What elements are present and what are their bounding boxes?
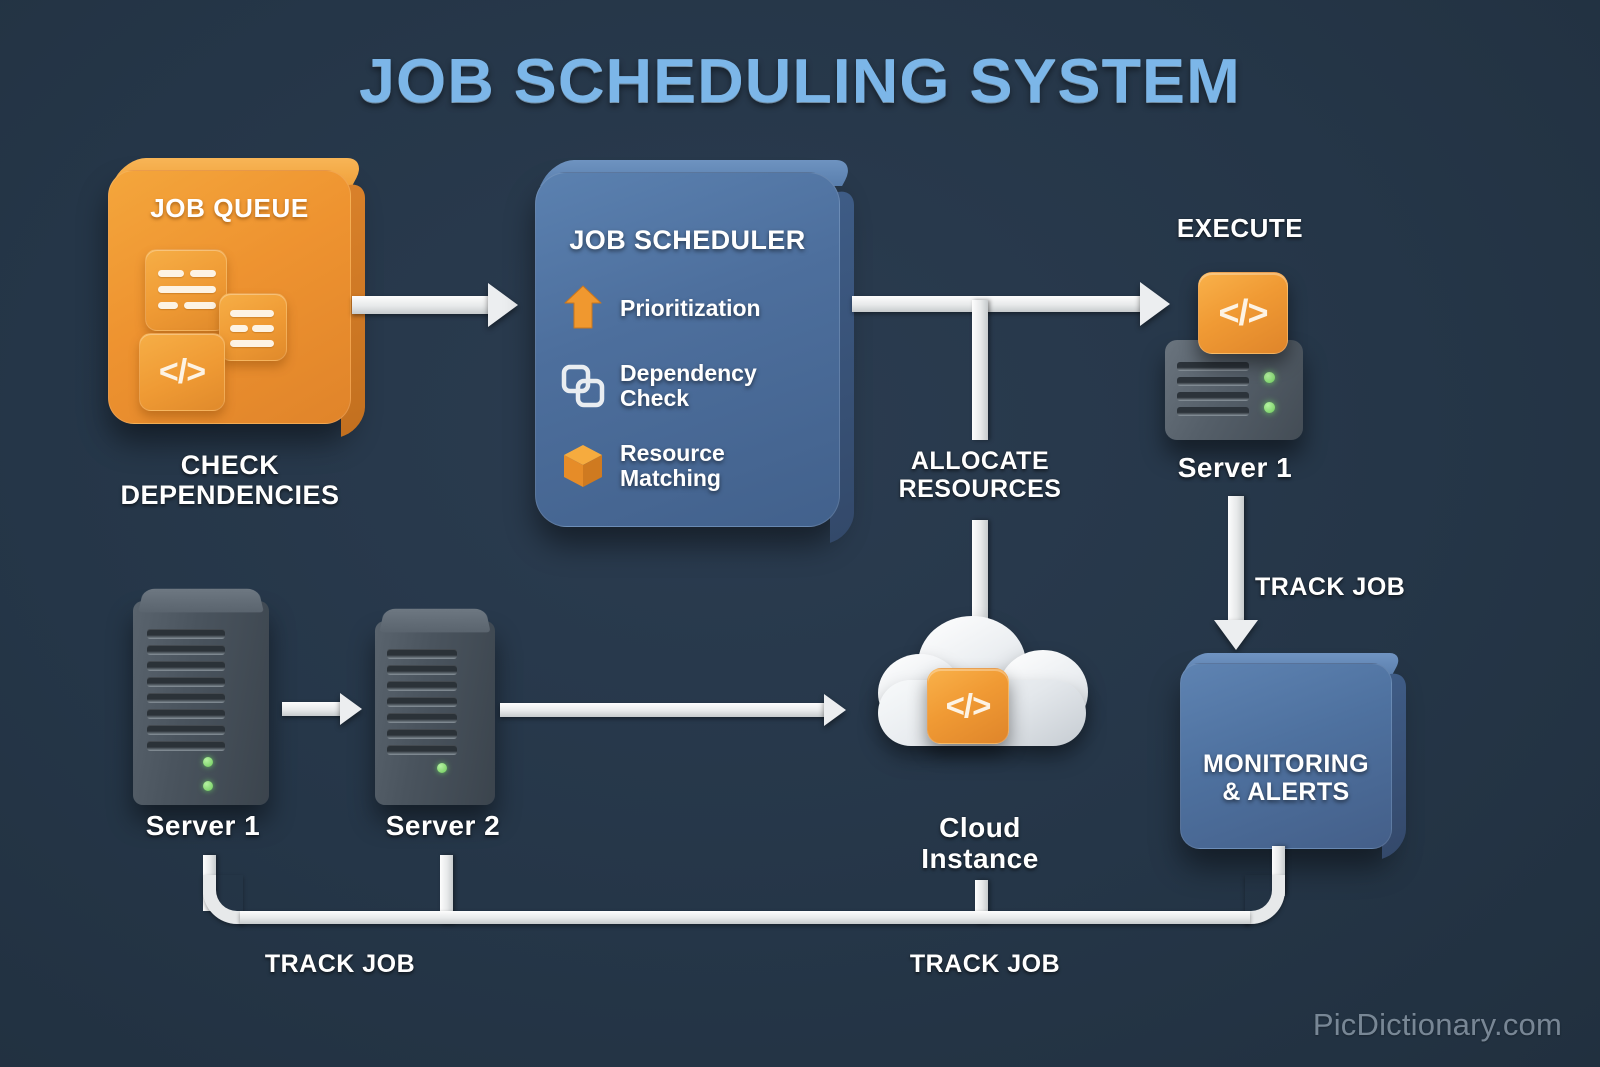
job-queue-title: JOB QUEUE (109, 193, 350, 224)
server-2-label: Server 2 (348, 810, 538, 841)
server-vents (387, 649, 457, 755)
overlapping-squares-icon (560, 361, 606, 411)
server-tower-icon[interactable] (375, 605, 495, 805)
feature-resource-matching[interactable]: Resource Matching (560, 441, 822, 491)
arrowhead-queue-to-scheduler (488, 283, 518, 327)
status-led (203, 781, 213, 791)
connector-execute-to-monitoring (1228, 496, 1244, 626)
code-cube-icon: </> (139, 333, 225, 411)
execute-label: EXECUTE (1120, 214, 1360, 243)
arrowhead-scheduler-to-execute (1140, 282, 1170, 326)
connector-server1-to-server2 (282, 702, 344, 716)
up-arrow-icon (560, 283, 606, 333)
track-job-bus (240, 911, 1250, 924)
diagram-canvas: JOB SCHEDULING SYSTEM JOB QUEUE (0, 0, 1600, 1067)
document-card-icon (219, 293, 287, 361)
track-elbow-left (203, 875, 243, 924)
feature-prioritization[interactable]: Prioritization (560, 283, 822, 333)
allocate-resources-label: ALLOCATE RESOURCES (865, 447, 1095, 503)
feature-dependency-check[interactable]: Dependency Check (560, 361, 822, 411)
server-top (138, 589, 263, 613)
cloud-instance-label: Cloud Instance (880, 812, 1080, 875)
feature-label: Dependency Check (620, 361, 757, 411)
job-scheduler-face: JOB SCHEDULER Prioritization (535, 172, 840, 527)
track-job-right-label: TRACK JOB (1255, 573, 1475, 601)
monitoring-alerts-node[interactable]: MONITORING & ALERTS (1180, 663, 1392, 849)
execute-server-label: Server 1 (1125, 452, 1345, 483)
monitoring-face: MONITORING & ALERTS (1180, 663, 1392, 849)
server-1-label: Server 1 (108, 810, 298, 841)
connector-scheduler-to-execute (852, 296, 1150, 312)
monitoring-label: MONITORING & ALERTS (1181, 750, 1391, 806)
connector-queue-to-scheduler (352, 296, 492, 314)
track-job-center-label: TRACK JOB (855, 950, 1115, 978)
server-vents (147, 629, 226, 751)
server-vents (1177, 362, 1249, 416)
job-queue-node[interactable]: JOB QUEUE </> (108, 170, 351, 424)
status-led (1264, 402, 1275, 413)
arrowhead-server1-to-server2 (340, 693, 362, 725)
execute-server-node[interactable] (1165, 340, 1303, 440)
check-dependencies-label: CHECK DEPENDENCIES (60, 450, 400, 510)
code-cube-icon: </> (927, 668, 1009, 744)
server-top (380, 609, 491, 633)
connector-server2-to-cloud (500, 703, 830, 717)
page-title: JOB SCHEDULING SYSTEM (0, 46, 1600, 117)
status-led (437, 763, 447, 773)
server-tower-icon[interactable] (133, 585, 269, 805)
code-cube-icon: </> (1198, 272, 1288, 354)
connector-allocate-branch (972, 300, 988, 440)
job-scheduler-title: JOB SCHEDULER (536, 225, 839, 256)
cube-icon (560, 441, 606, 491)
job-queue-face: JOB QUEUE </> (108, 170, 351, 424)
track-job-left-label: TRACK JOB (210, 950, 470, 978)
status-led (203, 757, 213, 767)
feature-label: Resource Matching (620, 441, 725, 491)
status-led (1264, 372, 1275, 383)
job-scheduler-node[interactable]: JOB SCHEDULER Prioritization (535, 172, 840, 527)
document-card-icon (145, 249, 227, 331)
feature-label: Prioritization (620, 296, 761, 321)
arrowhead-server2-to-cloud (824, 694, 846, 726)
arrowhead-execute-to-monitoring (1214, 620, 1258, 650)
watermark: PicDictionary.com (1313, 1007, 1562, 1043)
track-elbow-right (1245, 875, 1285, 924)
